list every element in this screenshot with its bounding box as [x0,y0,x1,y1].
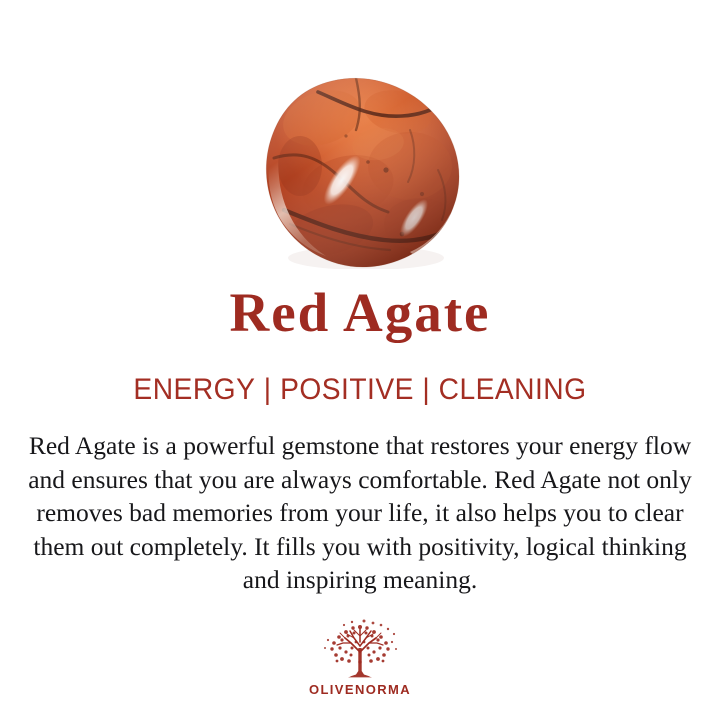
brand-name: OLIVENORMA [309,682,411,697]
tree-icon [318,618,402,680]
red-agate-stone-illustration [260,74,468,269]
product-info-card: Red Agate ENERGY|POSITIVE|CLEANING Red A… [0,0,720,720]
keyword-energy: ENERGY [133,373,255,406]
hero-image-area [0,0,720,285]
keyword-positive: POSITIVE [280,373,414,406]
keyword-tagline: ENERGY|POSITIVE|CLEANING [22,340,699,407]
keyword-separator-2: | [414,373,439,406]
keyword-separator-1: | [255,373,280,406]
gemstone-image [260,74,468,269]
product-description: Red Agate is a powerful gemstone that re… [17,407,703,597]
page-title: Red Agate [0,285,720,340]
brand-logo: OLIVENORMA [0,618,720,697]
keyword-cleaning: CLEANING [439,373,587,406]
